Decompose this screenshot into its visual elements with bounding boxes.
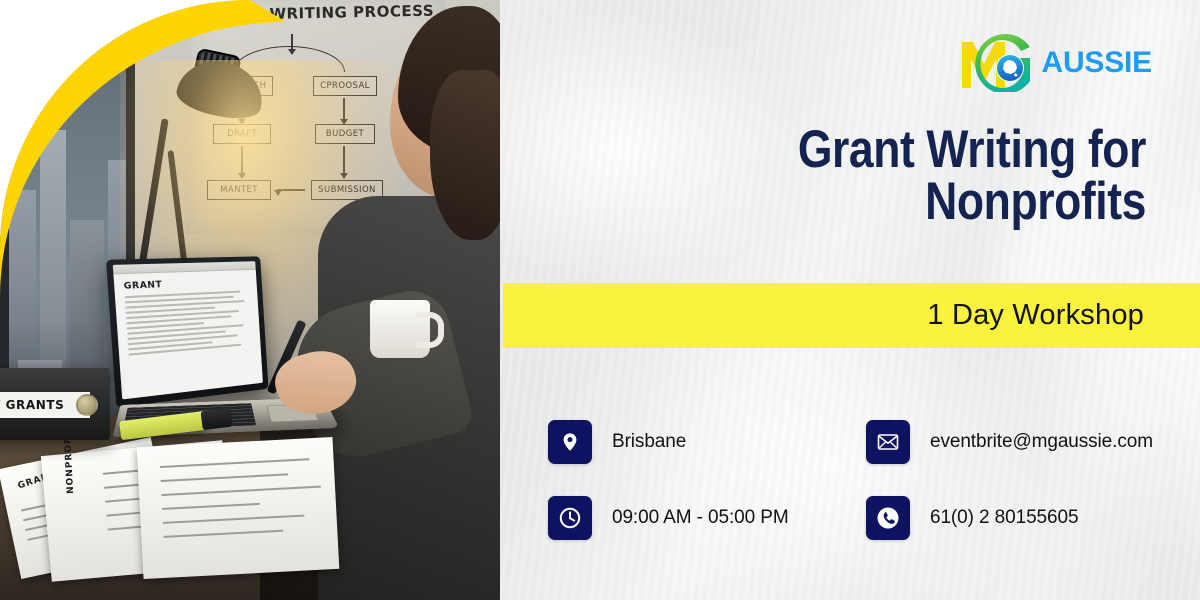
- laptop-doc-heading: GRANT: [123, 277, 248, 292]
- whiteboard-box: MANTET: [207, 180, 271, 200]
- laptop-display: GRANT: [113, 261, 263, 399]
- workshop-banner: 1 Day Workshop: [503, 283, 1200, 348]
- coffee-mug: [370, 300, 430, 358]
- whiteboard-arrow: [241, 146, 243, 174]
- paper-sheet: [137, 437, 340, 579]
- laptop-screen: GRANT: [106, 256, 269, 407]
- event-photo: GRANT WRITING PROCESS RESEARCH CPROOSAL …: [0, 0, 500, 600]
- whiteboard-title: GRANT WRITING PROCESS: [203, 2, 434, 25]
- whiteboard-arrow: [343, 98, 345, 120]
- title-line-2: Nonprofits: [608, 176, 1146, 228]
- workshop-banner-label: 1 Day Workshop: [927, 299, 1200, 332]
- whiteboard-box: BUDGET: [315, 124, 375, 144]
- contact-time-text: 09:00 AM - 05:00 PM: [612, 507, 789, 529]
- contact-phone-text: 61(0) 2 80155605: [930, 507, 1078, 529]
- logo-wordmark: AUSSIE: [1042, 46, 1153, 80]
- contact-email[interactable]: eventbrite@mgaussie.com: [866, 420, 1166, 464]
- title-line-1: Grant Writing for: [798, 120, 1146, 179]
- binder-ring: [76, 394, 98, 416]
- event-flyer: GRANT WRITING PROCESS RESEARCH CPROOSAL …: [0, 0, 1200, 600]
- contact-phone[interactable]: 61(0) 2 80155605: [866, 496, 1166, 540]
- laptop-document: GRANT: [113, 270, 261, 367]
- binder-label-text: T GRANTS: [0, 398, 64, 412]
- document-binder: T GRANTS: [0, 368, 110, 440]
- contact-location[interactable]: Brisbane: [548, 420, 866, 464]
- contact-details: Brisbane eventbrite@mgaussie.com 09:00 A…: [548, 420, 1168, 540]
- person-hair-back: [430, 70, 500, 240]
- whiteboard-arrow: [343, 146, 345, 174]
- mg-aussie-globe-logo-icon: [958, 34, 1044, 92]
- contact-time[interactable]: 09:00 AM - 05:00 PM: [548, 496, 866, 540]
- phone-icon: [866, 496, 910, 540]
- page-title: Grant Writing for Nonprofits: [608, 124, 1146, 229]
- contact-location-text: Brisbane: [612, 431, 686, 453]
- envelope-icon: [866, 420, 910, 464]
- whiteboard-arrow: [277, 189, 305, 191]
- brand-logo[interactable]: AUSSIE: [958, 34, 1153, 92]
- contact-email-text: eventbrite@mgaussie.com: [930, 431, 1153, 453]
- whiteboard-box: CPROOSAL: [313, 76, 377, 96]
- clock-icon: [548, 496, 592, 540]
- whiteboard-arrow: [291, 34, 293, 50]
- location-pin-icon: [548, 420, 592, 464]
